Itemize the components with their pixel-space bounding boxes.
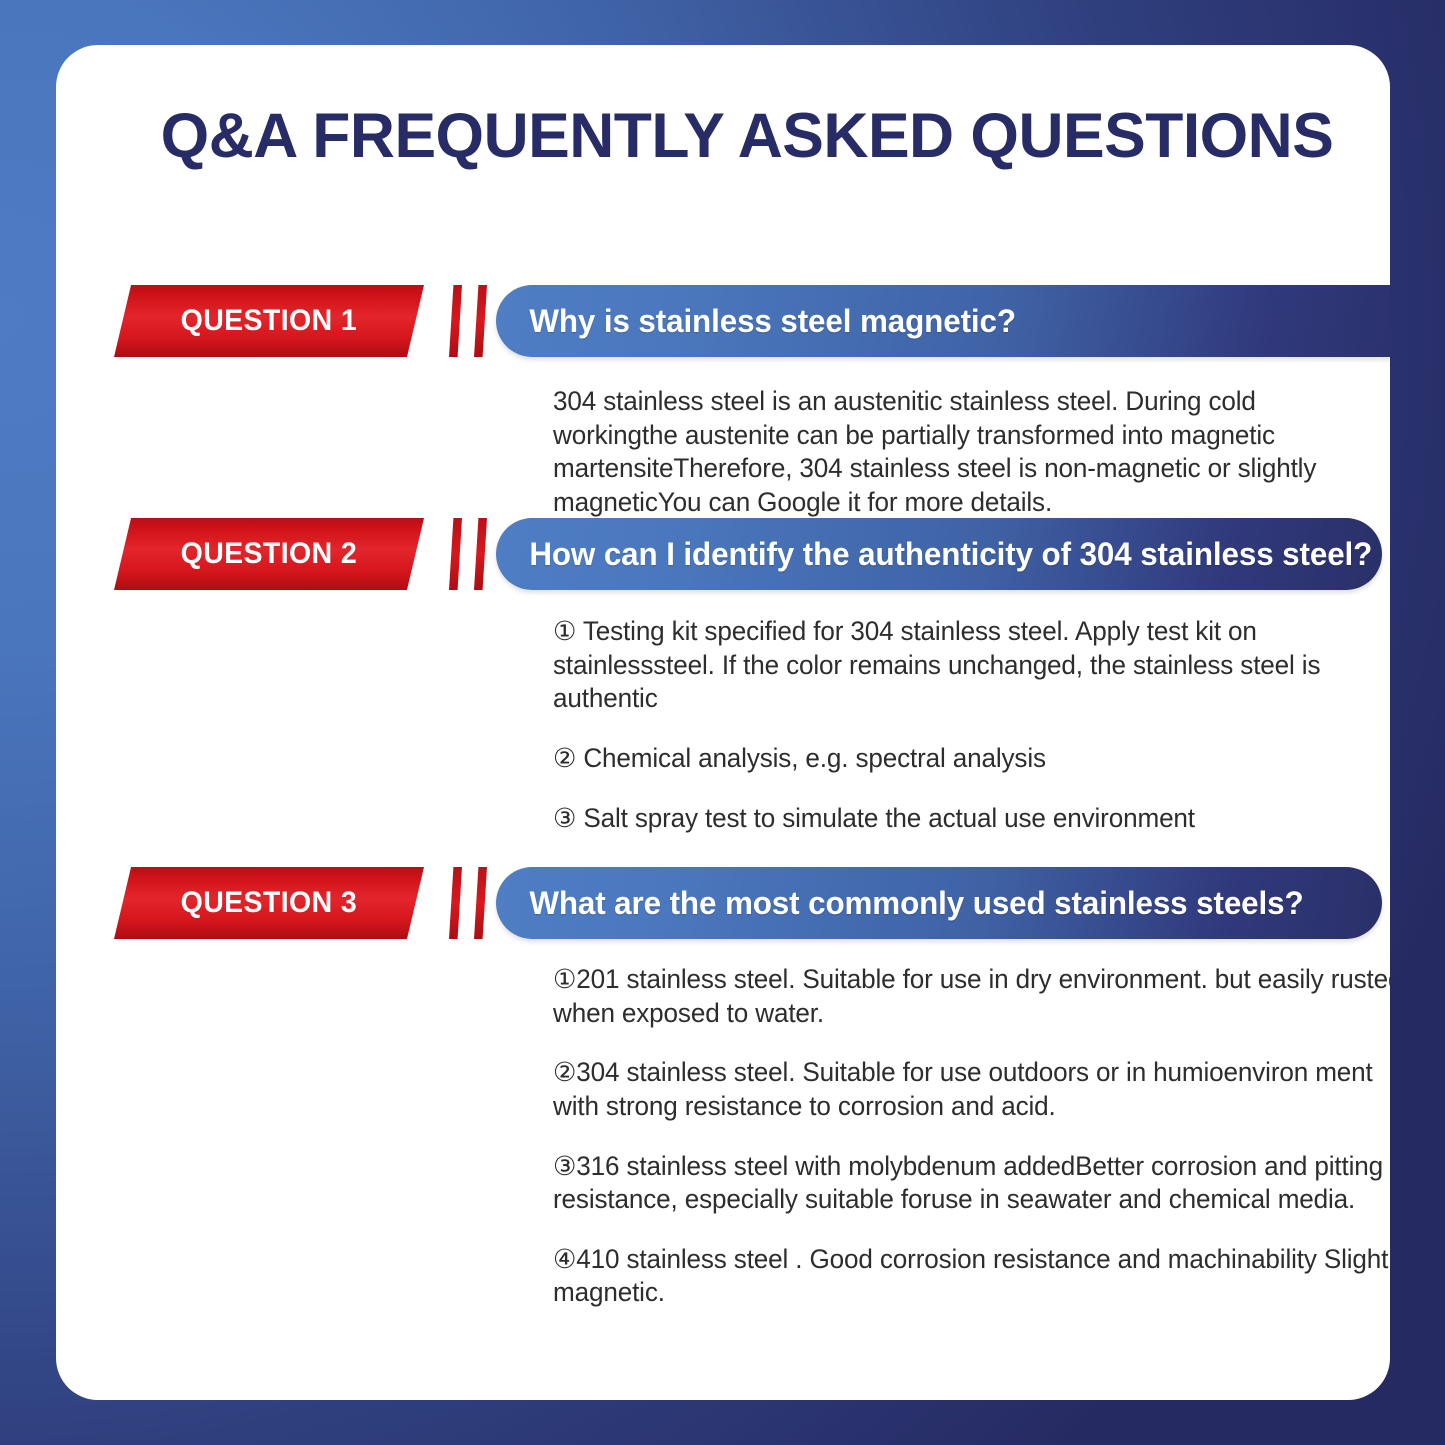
question-text-3: What are the most commonly used stainles… — [496, 885, 1304, 922]
slash-separator-icon — [474, 867, 487, 939]
slash-separator-icon — [474, 285, 487, 357]
answer-paragraph: ① Testing kit specified for 304 stainles… — [553, 615, 1341, 716]
question-text-1: Why is stainless steel magnetic? — [496, 303, 1016, 340]
question-badge-label-3: QUESTION 3 — [181, 886, 357, 920]
answer-3: ①201 stainless steel. Suitable for use i… — [553, 963, 1390, 1310]
answer-paragraph: ①201 stainless steel. Suitable for use i… — [553, 963, 1390, 1030]
question-badge-2: QUESTION 2 — [114, 518, 424, 590]
answer-1: 304 stainless steel is an austenitic sta… — [553, 385, 1386, 520]
question-badge-label-1: QUESTION 1 — [181, 304, 357, 338]
answer-paragraph: ② Chemical analysis, e.g. spectral analy… — [553, 742, 1341, 776]
question-pill-3[interactable]: What are the most commonly used stainles… — [496, 867, 1382, 939]
slash-separator-icon — [449, 867, 462, 939]
answer-paragraph: 304 stainless steel is an austenitic sta… — [553, 385, 1386, 520]
question-pill-1[interactable]: Why is stainless steel magnetic? — [496, 285, 1390, 357]
slash-separator-icon — [474, 518, 487, 590]
question-badge-label-2: QUESTION 2 — [181, 537, 357, 571]
question-badge-1: QUESTION 1 — [114, 285, 424, 357]
answer-paragraph: ②304 stainless steel. Suitable for use o… — [553, 1056, 1390, 1123]
faq-card: Q&A FREQUENTLY ASKED QUESTIONS QUESTION … — [56, 45, 1390, 1400]
question-pill-2[interactable]: How can I identify the authenticity of 3… — [496, 518, 1382, 590]
question-badge-3: QUESTION 3 — [114, 867, 424, 939]
question-text-2: How can I identify the authenticity of 3… — [496, 536, 1372, 573]
answer-paragraph: ④410 stainless steel . Good corrosion re… — [553, 1243, 1390, 1310]
slash-separator-icon — [449, 285, 462, 357]
answer-paragraph: ③ Salt spray test to simulate the actual… — [553, 802, 1341, 836]
answer-2: ① Testing kit specified for 304 stainles… — [553, 615, 1341, 835]
answer-paragraph: ③316 stainless steel with molybdenum add… — [553, 1150, 1390, 1217]
page-title: Q&A FREQUENTLY ASKED QUESTIONS — [158, 103, 1336, 169]
slash-separator-icon — [449, 518, 462, 590]
